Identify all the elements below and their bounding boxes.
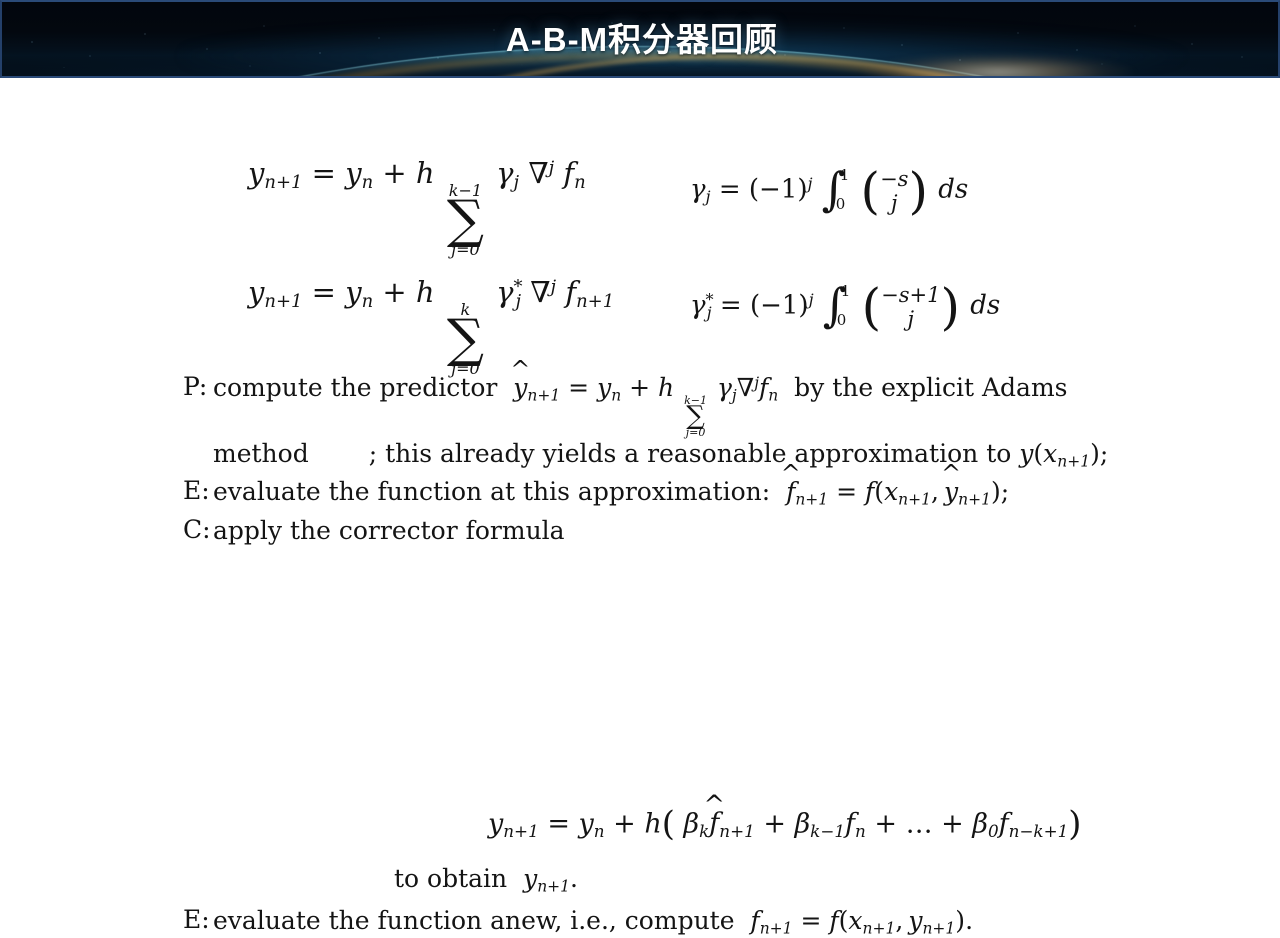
summation-operator: k−1 ∑ j=0	[447, 183, 484, 258]
integral-operator: ∫ 10	[823, 285, 851, 325]
pece-e2-formula: fn+1 = f(xn+1, yn+1)	[742, 906, 965, 935]
summation-operator: k ∑ j=0	[447, 302, 484, 377]
pece-p-formula: ^yn+1 = yn + h k−1∑j=0 γj∇jfn	[505, 373, 794, 402]
pece-c-trailing: .	[570, 864, 578, 893]
integral-operator: ∫ 10	[822, 169, 850, 209]
pece-c-obtain-formula: yn+1	[515, 864, 570, 893]
slide-title: A-B-M积分器回顾	[2, 2, 1280, 78]
equation-corrector-series: yn+1 = yn + h k ∑ j=0 γ*j ∇j fn+1	[248, 275, 614, 378]
pece-item-evaluate-1: E: evaluate the function at this approxi…	[183, 476, 1133, 509]
pece-item-predict: P: compute the predictor ^yn+1 = yn + h …	[183, 372, 1133, 470]
pece-e1-trailing: ;	[1001, 477, 1009, 506]
pece-c-text-after: to obtain	[394, 864, 507, 893]
binomial-coefficient: ( −s+1j )	[862, 283, 960, 332]
pece-p-text-before: compute the predictor	[213, 373, 497, 402]
pece-p-text-after: ; this already yields a reasonable appro…	[369, 439, 1012, 468]
pece-e2-text: evaluate the function anew, i.e., comput…	[213, 906, 735, 935]
pece-e2-trailing: .	[965, 906, 973, 935]
pece-c-text: apply the corrector formula	[213, 516, 565, 545]
pece-tag-p: P:	[183, 372, 213, 401]
equation-gamma-definition: γj = (−1)j ∫ 10 ( −sj ) ds	[690, 167, 968, 216]
equation-predictor-series: yn+1 = yn + h k−1 ∑ j=0 γj ∇j fn	[248, 156, 586, 259]
pece-p-trailing: ;	[1100, 439, 1108, 468]
pece-tag-e2: E:	[183, 905, 213, 934]
pece-c-obtain-line: to obtain yn+1.	[394, 864, 578, 893]
pece-e1-formula: ^fn+1 = f(xn+1, ^yn+1)	[778, 477, 1001, 506]
pece-tag-e1: E:	[183, 476, 213, 505]
pece-item-correct: C: apply the corrector formula	[183, 515, 1133, 548]
binomial-coefficient: ( −sj )	[861, 167, 928, 216]
pece-item-evaluate-2: E: evaluate the function anew, i.e., com…	[183, 905, 1133, 938]
pece-p-approx-target: y(xn+1)	[1019, 439, 1100, 468]
pece-tag-c: C:	[183, 515, 213, 544]
slide-content: yn+1 = yn + h k−1 ∑ j=0 γj ∇j fn γj = (−…	[0, 78, 1280, 720]
equation-corrector-formula: yn+1 = yn + h( βk^fn+1 + βk−1fn + … + β0…	[488, 804, 1081, 843]
slide-header-banner: A-B-M积分器回顾	[0, 0, 1280, 78]
equation-gamma-star-definition: γ*j = (−1)j ∫ 10 ( −s+1j ) ds	[690, 283, 1000, 332]
pece-e1-text: evaluate the function at this approximat…	[213, 477, 770, 506]
pece-scheme-list: P: compute the predictor ^yn+1 = yn + h …	[183, 372, 1133, 547]
